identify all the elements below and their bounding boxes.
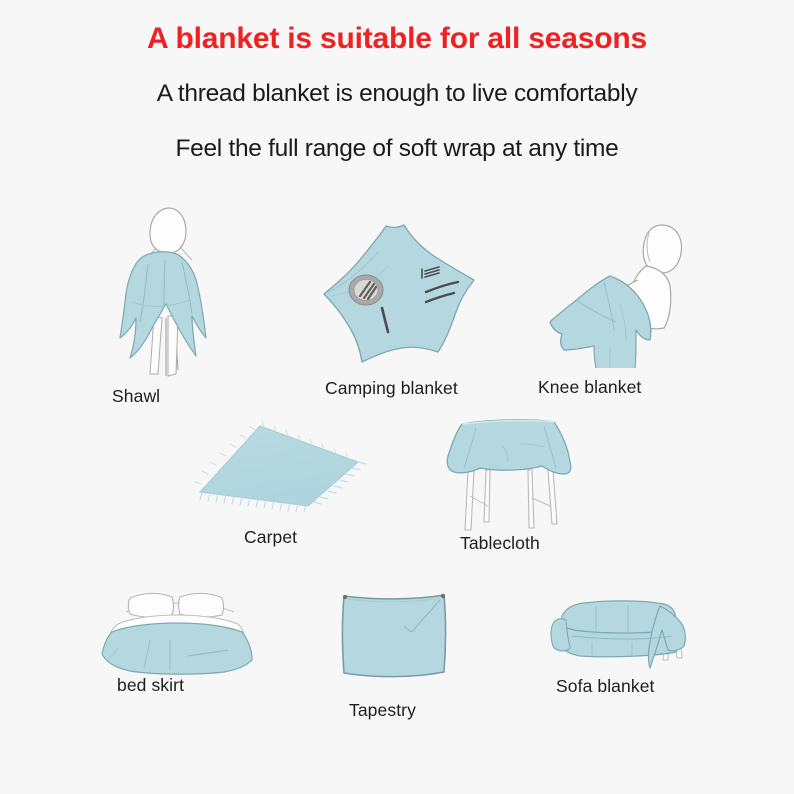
use-case-knee-blanket [546,218,706,368]
subtitle-primary: A thread blanket is enough to live comfo… [0,55,794,108]
subtitle-secondary: Feel the full range of soft wrap at any … [0,108,794,163]
use-case-camping-blanket [318,222,483,370]
use-case-carpet [190,418,370,518]
label-sofa-blanket: Sofa blanket [556,676,655,697]
use-case-shawl [108,198,228,383]
label-bed-skirt: bed skirt [117,675,184,696]
flat-picnic-blanket-icon [318,222,483,370]
label-tapestry: Tapestry [349,700,416,721]
page-title: A blanket is suitable for all seasons [0,0,794,55]
label-camping-blanket: Camping blanket [325,378,458,399]
use-case-sofa-blanket [548,586,698,676]
heading-block: A blanket is suitable for all seasons A … [0,0,794,163]
label-tablecloth: Tablecloth [460,533,540,554]
bed-with-pillows-icon [96,588,261,678]
covered-sofa-icon [548,586,698,676]
person-wrapped-in-shawl-icon [108,198,228,383]
label-shawl: Shawl [112,386,160,407]
label-knee-blanket: Knee blanket [538,377,641,398]
use-case-tapestry [336,590,452,690]
fringed-rug-icon [190,418,370,518]
label-carpet: Carpet [244,527,297,548]
hanging-wall-cloth-icon [336,590,452,690]
seated-person-lap-blanket-icon [546,218,706,368]
use-case-bed-skirt [96,588,261,678]
infographic-poster: A blanket is suitable for all seasons A … [0,0,794,794]
use-case-tablecloth [432,412,592,542]
draped-table-icon [432,412,592,542]
